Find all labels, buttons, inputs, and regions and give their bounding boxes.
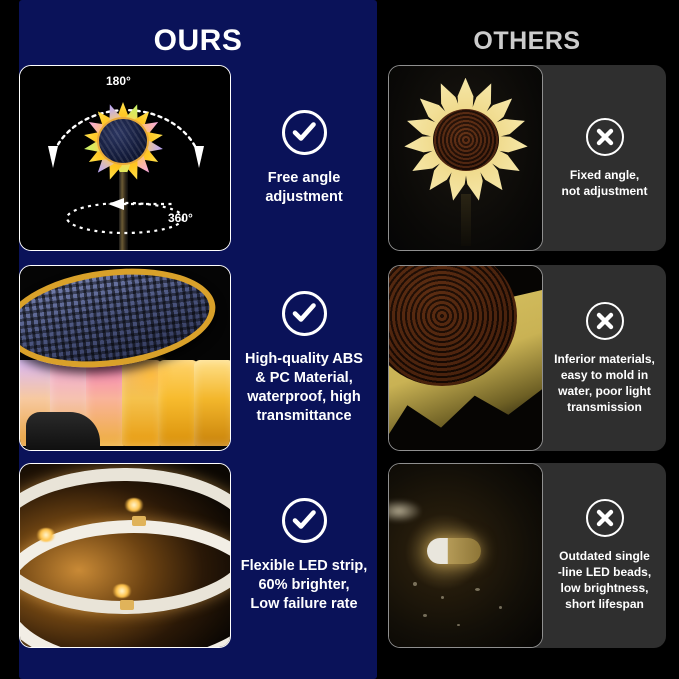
sunflower-petals: [401, 75, 531, 205]
others-row-2: Inferior materials, easy to mold in wate…: [388, 265, 666, 451]
ours-row-1: 180° 360°: [19, 65, 377, 251]
lamp-base: [26, 412, 100, 451]
others-caption-block-2: Inferior materials, easy to mold in wate…: [543, 265, 666, 451]
check-circle-icon: [282, 498, 327, 543]
others-column-title: OTHERS: [388, 24, 666, 58]
photo-card-wet-bulb: [388, 463, 543, 648]
ours-caption-text-2: High-quality ABS & PC Material, waterpro…: [245, 350, 363, 426]
plain-sunflower-photo-art: [389, 66, 542, 250]
rotation-ellipse-arrow-icon: [56, 194, 194, 238]
solar-disc: [97, 117, 149, 165]
sunflower-angle-diagram-art: 180° 360°: [20, 66, 230, 250]
sunflower-head: [84, 102, 162, 180]
others-caption-block-3: Outdated single -line LED beads, low bri…: [543, 463, 666, 648]
others-plate-1: Fixed angle, not adjustment: [388, 65, 666, 251]
ours-row-3: Flexible LED strip, 60% brighter, Low fa…: [19, 463, 377, 648]
ours-row-2: High-quality ABS & PC Material, waterpro…: [19, 265, 377, 451]
ours-caption-block-3: Flexible LED strip, 60% brighter, Low fa…: [231, 463, 377, 648]
ours-caption-block-1: Free angle adjustment: [231, 65, 377, 251]
x-circle-icon: [586, 302, 624, 340]
others-caption-block-1: Fixed angle, not adjustment: [543, 65, 666, 251]
sunflower-closeup-photo-art: [389, 266, 542, 450]
solar-panel-closeup-art: [20, 266, 230, 450]
others-caption-text-1: Fixed angle, not adjustment: [562, 167, 648, 199]
ours-caption-text-3: Flexible LED strip, 60% brighter, Low fa…: [241, 557, 368, 614]
check-circle-icon: [282, 110, 327, 155]
image-card-angle-diagram: 180° 360°: [19, 65, 231, 251]
ours-caption-text-1: Free angle adjustment: [265, 169, 342, 207]
background-bulb: [388, 500, 421, 522]
ours-column-title: OURS: [19, 24, 377, 58]
sunflower-core: [433, 109, 499, 171]
single-led-bulb-photo-art: [389, 464, 542, 647]
tilt-angle-label: 180°: [106, 74, 131, 88]
image-card-material-closeup: [19, 265, 231, 451]
others-plate-2: Inferior materials, easy to mold in wate…: [388, 265, 666, 451]
photo-card-petal-closeup: [388, 265, 543, 451]
others-row-1: Fixed angle, not adjustment: [388, 65, 666, 251]
image-card-led-strip: [19, 463, 231, 648]
others-plate-3: Outdated single -line LED beads, low bri…: [388, 463, 666, 648]
photo-card-plain-sunflower: [388, 65, 543, 251]
x-circle-icon: [586, 118, 624, 156]
x-circle-icon: [586, 499, 624, 537]
others-caption-text-2: Inferior materials, easy to mold in wate…: [554, 351, 655, 415]
others-caption-text-3: Outdated single -line LED beads, low bri…: [558, 548, 651, 612]
led-strip-art: [20, 464, 230, 647]
ours-caption-block-2: High-quality ABS & PC Material, waterpro…: [231, 265, 377, 451]
led-bulb: [427, 538, 481, 564]
comparison-infographic: OURS OTHERS 180° 360°: [0, 0, 679, 679]
others-row-3: Outdated single -line LED beads, low bri…: [388, 463, 666, 648]
check-circle-icon: [282, 291, 327, 336]
